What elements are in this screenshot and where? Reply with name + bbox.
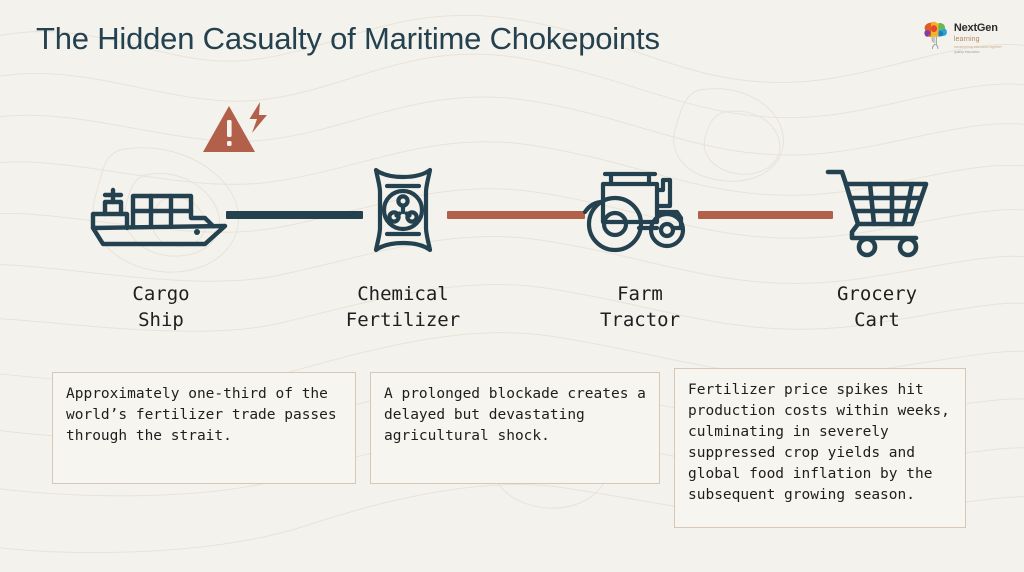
- logo-tagline-secondary: quality education: [954, 51, 1002, 54]
- supply-chain-flow: Cargo Ship Chemical: [0, 96, 1024, 336]
- flow-node-cargo-ship[interactable]: Cargo Ship: [61, 96, 261, 336]
- flow-node-grocery-cart[interactable]: Grocery Cart: [777, 96, 977, 336]
- logo-subtitle: learning: [954, 36, 1002, 43]
- fact-card-3: Fertilizer price spikes hit production c…: [674, 368, 966, 528]
- logo-tagline: transforming education together: [954, 46, 1002, 49]
- flow-node-farm-tractor[interactable]: Farm Tractor: [540, 96, 740, 336]
- fertilizer-bag-icon: [303, 164, 503, 256]
- tractor-icon: [540, 164, 740, 256]
- flow-node-chemical-fertilizer[interactable]: Chemical Fertilizer: [303, 96, 503, 336]
- page-title: The Hidden Casualty of Maritime Chokepoi…: [36, 21, 660, 57]
- brand-logo: NextGen learning transforming education …: [923, 20, 1002, 54]
- fact-card-1: Approximately one-third of the world’s f…: [52, 372, 356, 484]
- fact-card-2: A prolonged blockade creates a delayed b…: [370, 372, 660, 484]
- flow-label-grocery-cart: Grocery Cart: [777, 281, 977, 333]
- flow-label-chemical-fertilizer: Chemical Fertilizer: [303, 281, 503, 333]
- logo-text-block: NextGen learning transforming education …: [954, 20, 1002, 54]
- brain-icon: [923, 20, 949, 50]
- logo-name: NextGen: [954, 23, 1002, 34]
- flow-label-farm-tractor: Farm Tractor: [540, 281, 740, 333]
- flow-label-cargo-ship: Cargo Ship: [61, 281, 261, 333]
- cargo-ship-icon: [61, 164, 261, 256]
- warning-triangle-icon: [197, 100, 275, 162]
- shopping-cart-icon: [777, 164, 977, 256]
- slide-canvas: The Hidden Casualty of Maritime Chokepoi…: [0, 0, 1024, 572]
